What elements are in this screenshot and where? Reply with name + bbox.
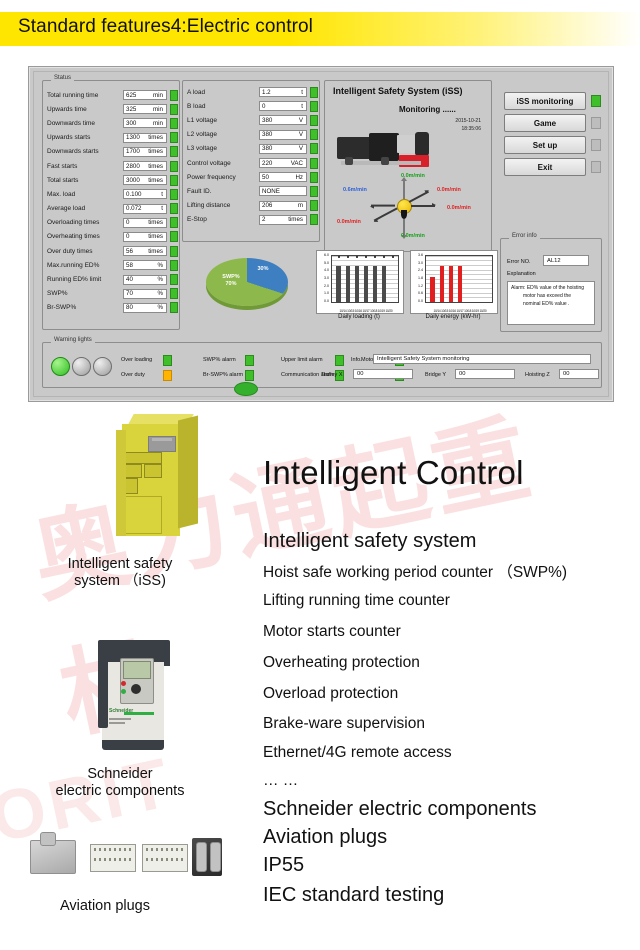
timestamp-date: 2015-10-21: [421, 118, 481, 124]
row-led: [310, 101, 318, 112]
plug-pin: [129, 858, 131, 861]
row-label: Control voltage: [183, 160, 259, 167]
row-label: L3 voltage: [183, 145, 259, 152]
row-unit: V: [299, 131, 304, 138]
coord-value-1: 00: [459, 371, 465, 377]
schneider-vfd-image: Schneider: [98, 640, 178, 752]
plug-pin: [156, 848, 158, 851]
chart-bar: [440, 266, 444, 302]
error-explanation-line-2: motor has exceed the: [511, 293, 591, 301]
daily-loading-plot: [331, 255, 399, 303]
info-value: Intelligent Safety System monitoring: [377, 356, 469, 362]
chart-ytick: 0.0: [317, 299, 329, 303]
chart-marker: [338, 256, 340, 258]
row-value: 0.072: [126, 205, 141, 212]
row-led: [170, 203, 178, 214]
row-field[interactable]: 380V: [259, 130, 307, 140]
plug-pin: [161, 848, 163, 851]
chart-ytick: 3.6: [411, 253, 423, 257]
row-unit: Hz: [295, 174, 304, 181]
page-root: 奥力通起重机 ORIT Standard features4:Electric …: [0, 0, 640, 950]
content-item-0: Hoist safe working period counter （SWP%): [263, 560, 567, 582]
daily-loading-xticks: 10/14 10/15 10/16 10/17 10/18 10/19 10/2…: [331, 309, 401, 313]
row-led: [170, 274, 178, 285]
row-unit: t: [161, 205, 164, 212]
chart-ytick: 4.0: [317, 268, 329, 272]
warning-lights-title: Warning lights: [51, 337, 95, 343]
row-value: 380: [262, 117, 272, 124]
row-label: Downwards starts: [43, 148, 123, 155]
row-value: 58: [126, 262, 133, 269]
row-led: [170, 104, 178, 115]
speed-label-left-up: 0.6m/min: [343, 187, 367, 193]
warning-indicator-2: [245, 355, 254, 366]
row-value: 3000: [126, 177, 140, 184]
content-section1-title: Intelligent safety system: [263, 530, 476, 553]
arrow-up: [403, 181, 405, 199]
error-explanation-line-3: nominal ED% value .: [511, 301, 591, 309]
button-led-3: [591, 161, 601, 173]
row-led: [310, 115, 318, 126]
plug-pin: [124, 858, 126, 861]
plug-pin: [151, 858, 153, 861]
row-unit: t: [301, 89, 304, 96]
row-led: [170, 260, 178, 271]
button-iss-monitoring[interactable]: iSS monitoring: [504, 92, 586, 110]
chart-ytick: 3.0: [411, 261, 423, 265]
daily-loading-chart: 6.05.04.03.02.01.00.0 10/14 10/15 10/16 …: [316, 250, 402, 330]
chart-ytick: 5.0: [317, 261, 329, 265]
row-unit: t: [161, 191, 164, 198]
content-item-5: Brake-ware supervision: [263, 715, 425, 733]
row-field[interactable]: 80%: [123, 303, 167, 313]
row-label: Running ED% limit: [43, 276, 123, 283]
row-label: Fault ID.: [183, 188, 259, 195]
warning-lamp-2: [93, 357, 112, 376]
row-value: 625: [126, 92, 136, 99]
plug-pin: [171, 858, 173, 861]
iss-panel-title: Intelligent Safety System (iSS): [333, 86, 463, 96]
row-field[interactable]: 70%: [123, 289, 167, 299]
row-label: L1 voltage: [183, 117, 259, 124]
status-table: Total running time625minUpwards time325m…: [43, 81, 179, 315]
arrow-down-left: [373, 207, 397, 221]
row-field[interactable]: 625min: [123, 90, 167, 100]
hoist-illustration: [337, 129, 455, 181]
row-field[interactable]: 56times: [123, 246, 167, 256]
row-led: [310, 87, 318, 98]
measure-group: A load1.2tB load0tL1 voltage380VL2 volta…: [182, 80, 320, 242]
button-game[interactable]: Game: [504, 114, 586, 132]
error-number-field: AL12: [543, 255, 589, 266]
row-label: Fast starts: [43, 163, 123, 170]
swp-pie-chart: SWP%70% 30%: [194, 252, 304, 316]
daily-loading-caption: Daily loading (t): [316, 314, 402, 320]
row-label: Downwards time: [43, 120, 123, 127]
arrow-left: [371, 205, 395, 207]
row-field[interactable]: 300min: [123, 118, 167, 128]
row-unit: times: [148, 248, 164, 255]
row-unit: times: [148, 233, 164, 240]
content-item-1: Lifting running time counter: [263, 592, 450, 610]
row-label: E-Stop: [183, 216, 259, 223]
row-field[interactable]: 0.072t: [123, 204, 167, 214]
plug-pin: [99, 858, 101, 861]
row-value: 300: [126, 120, 136, 127]
content-feature-0: Schneider electric components: [263, 798, 536, 821]
error-number-value: AL12: [547, 258, 561, 264]
table-row: Max.running ED%58%: [43, 258, 179, 272]
row-unit: times: [148, 163, 164, 170]
content-feature-1: Aviation plugs: [263, 826, 387, 849]
arrow-right: [411, 205, 435, 207]
caption-iss: Intelligent safetysystem （iSS): [5, 556, 235, 590]
row-field[interactable]: 0.100t: [123, 189, 167, 199]
content-feature-2: IP55: [263, 854, 304, 877]
coord-field-0[interactable]: 00: [353, 369, 413, 379]
row-label: Overheating times: [43, 233, 123, 240]
row-value: 0.100: [126, 191, 141, 198]
plug-pin: [129, 848, 131, 851]
daily-energy-chart: 3.63.02.41.81.20.60.0 10/14 10/15 10/16 …: [410, 250, 496, 330]
row-unit: times: [148, 177, 164, 184]
chart-bar: [430, 277, 434, 302]
row-led: [170, 246, 178, 257]
row-unit: %: [157, 290, 164, 297]
aviation-plugs-image: [28, 828, 228, 884]
status-pill: [234, 382, 258, 396]
chart-ytick: 1.0: [317, 291, 329, 295]
row-label: Average load: [43, 205, 123, 212]
row-led: [310, 158, 318, 169]
button-led-1: [591, 117, 601, 129]
table-row: L1 voltage380V: [183, 113, 319, 127]
row-label: SWP%: [43, 290, 123, 297]
row-led: [170, 118, 178, 129]
button-exit[interactable]: Exit: [504, 158, 586, 176]
coord-value-2: 00: [563, 371, 569, 377]
row-label: B load: [183, 103, 259, 110]
hmi-inner-frame: Status Total running time625minUpwards t…: [33, 71, 609, 397]
plug-pin: [124, 848, 126, 851]
row-value: 0: [126, 233, 129, 240]
plug-pin: [166, 858, 168, 861]
table-row: Br-SWP%80%: [43, 301, 179, 315]
row-field[interactable]: NONE: [259, 186, 307, 196]
daily-energy-xticks: 10/14 10/15 10/16 10/17 10/18 10/19 10/2…: [425, 309, 495, 313]
row-label: Max.running ED%: [43, 262, 123, 269]
chart-bar: [382, 266, 386, 302]
row-value: 1700: [126, 148, 140, 155]
table-row: L3 voltage380V: [183, 142, 319, 156]
pie-slice-label-0: SWP%70%: [214, 274, 248, 288]
plug-pin: [176, 858, 178, 861]
row-label: Lifting distance: [183, 202, 259, 209]
row-led: [170, 231, 178, 242]
row-value: 56: [126, 248, 133, 255]
warning-label-3: Br-SWP% alarm: [203, 372, 243, 378]
row-label: Br-SWP%: [43, 304, 123, 311]
row-unit: times: [148, 219, 164, 226]
chart-ytick: 6.0: [317, 253, 329, 257]
row-label: Upwards time: [43, 106, 123, 113]
row-field[interactable]: 2times: [259, 215, 307, 225]
content-item-7: … …: [263, 772, 298, 790]
info-label: Info.: [351, 357, 362, 363]
row-led: [170, 288, 178, 299]
error-explanation-label: Explanation: [507, 271, 536, 277]
row-field[interactable]: 206m: [259, 201, 307, 211]
table-row: Average load0.072t: [43, 202, 179, 216]
row-led: [310, 172, 318, 183]
row-value: 325: [126, 106, 136, 113]
row-unit: m: [298, 202, 304, 209]
row-field[interactable]: 58%: [123, 260, 167, 270]
row-field[interactable]: 325min: [123, 104, 167, 114]
row-unit: t: [301, 103, 304, 110]
row-field[interactable]: 1.2t: [259, 87, 307, 97]
plug-pin: [99, 848, 101, 851]
row-unit: V: [299, 145, 304, 152]
row-field[interactable]: 380V: [259, 144, 307, 154]
row-value: 80: [126, 304, 133, 311]
daily-energy-plot: [425, 255, 493, 303]
button-led-2: [591, 139, 601, 151]
plug-pin: [176, 848, 178, 851]
plug-pin: [104, 858, 106, 861]
row-value: 0: [126, 219, 129, 226]
chart-bar: [346, 266, 350, 302]
row-field[interactable]: 1300times: [123, 133, 167, 143]
coord-label-1: Bridge Y: [425, 372, 446, 378]
speed-label-right-up: 0.0m/min: [437, 187, 461, 193]
row-unit: times: [288, 216, 304, 223]
status-group: Status Total running time625minUpwards t…: [42, 80, 180, 330]
row-led: [170, 189, 178, 200]
row-unit: %: [157, 276, 164, 283]
row-led: [170, 175, 178, 186]
plug-pin: [109, 848, 111, 851]
row-value: 1.2: [262, 89, 271, 96]
warning-lamp-0: [51, 357, 70, 376]
chart-ytick: 2.4: [411, 268, 423, 272]
plug-pin: [161, 858, 163, 861]
warning-label-1: Over duty: [121, 372, 145, 378]
caption-schneider: Schneiderelectric components: [5, 766, 235, 800]
error-explanation-box: Alarm: ED% value of the hoisting motor h…: [507, 281, 595, 325]
warning-label-2: SWP% alarm: [203, 357, 236, 363]
chart-ytick: 1.2: [411, 284, 423, 288]
hook-icon: [401, 210, 407, 219]
plug-pin: [114, 858, 116, 861]
row-field[interactable]: 220VAC: [259, 158, 307, 168]
coord-label-2: Hoisting Z: [525, 372, 550, 378]
table-row: Downwards time300min: [43, 116, 179, 130]
plug-pin: [104, 848, 106, 851]
row-value: 70: [126, 290, 133, 297]
table-row: SWP%70%: [43, 287, 179, 301]
chart-marker: [392, 256, 394, 258]
row-value: 0: [262, 103, 265, 110]
row-field[interactable]: 380V: [259, 115, 307, 125]
chart-bar: [336, 266, 340, 302]
table-row: L2 voltage380V: [183, 128, 319, 142]
warning-label-0: Over loading: [121, 357, 152, 363]
iss-module-image: [108, 412, 204, 552]
content-item-2: Motor starts counter: [263, 623, 401, 641]
chart-ytick: 2.0: [317, 284, 329, 288]
table-row: Over duty times56times: [43, 244, 179, 258]
info-field[interactable]: Intelligent Safety System monitoring: [373, 354, 591, 364]
error-info-group: Error info Error NO. AL12 Explanation Al…: [500, 238, 602, 332]
caption-plugs: Aviation plugs: [0, 898, 220, 915]
row-value: 2800: [126, 163, 140, 170]
chart-marker: [374, 256, 376, 258]
row-led: [170, 217, 178, 228]
plug-pin: [171, 848, 173, 851]
chart-ytick: 0.6: [411, 291, 423, 295]
row-label: Total running time: [43, 92, 123, 99]
row-field[interactable]: 1700times: [123, 147, 167, 157]
row-label: Power frequency: [183, 174, 259, 181]
table-row: E-Stop2times: [183, 213, 319, 227]
row-field[interactable]: 0times: [123, 232, 167, 242]
daily-energy-caption: Daily energy (kW-hr): [410, 314, 496, 320]
table-row: Fast starts2800times: [43, 159, 179, 173]
table-row: Max. load0.100t: [43, 187, 179, 201]
row-led: [310, 214, 318, 225]
row-unit: V: [299, 117, 304, 124]
table-row: Power frequency50Hz: [183, 170, 319, 184]
row-unit: times: [148, 134, 164, 141]
row-led: [310, 200, 318, 211]
row-field[interactable]: 40%: [123, 275, 167, 285]
row-value: 2: [262, 216, 265, 223]
chart-marker: [347, 256, 349, 258]
button-set-up[interactable]: Set up: [504, 136, 586, 154]
warning-indicator-0: [163, 355, 172, 366]
row-field[interactable]: 2800times: [123, 161, 167, 171]
row-led: [170, 132, 178, 143]
table-row: B load0t: [183, 99, 319, 113]
daily-energy-chartbox: 3.63.02.41.81.20.60.0 10/14 10/15 10/16 …: [410, 250, 498, 314]
row-unit: min: [153, 106, 164, 113]
row-led: [310, 186, 318, 197]
plug-pin: [166, 848, 168, 851]
row-label: Over duty times: [43, 248, 123, 255]
plug-pin: [109, 858, 111, 861]
table-row: Total running time625min: [43, 88, 179, 102]
plug-pin: [146, 848, 148, 851]
coord-field-2[interactable]: 00: [559, 369, 599, 379]
speed-label-right: 0.0m/min: [447, 205, 471, 211]
table-row: A load1.2t: [183, 85, 319, 99]
error-number-label: Error NO.: [507, 259, 531, 265]
row-unit: VAC: [291, 160, 304, 167]
row-led: [170, 146, 178, 157]
row-label: L2 voltage: [183, 131, 259, 138]
warning-lamp-1: [72, 357, 91, 376]
row-unit: min: [153, 120, 164, 127]
row-label: A load: [183, 89, 259, 96]
row-value: 380: [262, 131, 272, 138]
plug-pin: [181, 848, 183, 851]
row-led: [170, 302, 178, 313]
plug-pin: [119, 858, 121, 861]
warning-label-4: Upper limit alarm: [281, 357, 323, 363]
plug-pin: [146, 858, 148, 861]
coord-value-0: 00: [357, 371, 363, 377]
table-row: Upwards time325min: [43, 102, 179, 116]
speed-label-left-down: 0.0m/min: [337, 219, 361, 225]
measure-table: A load1.2tB load0tL1 voltage380VL2 volta…: [183, 81, 319, 227]
row-led: [310, 143, 318, 154]
row-field[interactable]: 0times: [123, 218, 167, 228]
content-feature-3: IEC standard testing: [263, 884, 444, 907]
plug-pin: [181, 858, 183, 861]
plug-pin: [94, 848, 96, 851]
warning-indicator-3: [245, 370, 254, 381]
content-item-3: Overheating protection: [263, 654, 420, 672]
chart-ytick: 0.0: [411, 299, 423, 303]
page-title: Standard features4:Electric control: [18, 16, 313, 38]
row-label: Total starts: [43, 177, 123, 184]
row-value: 380: [262, 145, 272, 152]
row-field[interactable]: 0t: [259, 101, 307, 111]
content-item-4: Overload protection: [263, 685, 398, 703]
row-led: [170, 161, 178, 172]
plug-pin: [119, 848, 121, 851]
speed-label-up: 0.0m/min: [401, 173, 425, 179]
plug-pin: [151, 848, 153, 851]
row-unit: times: [148, 148, 164, 155]
chart-bar: [449, 266, 453, 302]
daily-loading-chartbox: 6.05.04.03.02.01.00.0 10/14 10/15 10/16 …: [316, 250, 404, 314]
row-value: 40: [126, 276, 133, 283]
table-row: Fault ID.NONE: [183, 184, 319, 198]
chart-ytick: 3.0: [317, 276, 329, 280]
chart-bar: [355, 266, 359, 302]
table-row: Downwards starts1700times: [43, 145, 179, 159]
warning-lights-group: Warning lights Over loadingOver dutySWP%…: [42, 342, 602, 388]
table-row: Control voltage220VAC: [183, 156, 319, 170]
content-heading: Intelligent Control: [263, 454, 524, 492]
arrow-up-right: [409, 191, 429, 203]
row-label: Max. load: [43, 191, 123, 198]
monitoring-label: Monitoring ......: [399, 105, 456, 114]
table-row: Overheating times0times: [43, 230, 179, 244]
chart-bar: [364, 266, 368, 302]
row-field[interactable]: 3000times: [123, 175, 167, 185]
table-row: Overloading times0times: [43, 216, 179, 230]
iss-panel: Intelligent Safety System (iSS) Monitori…: [324, 80, 492, 252]
coord-field-1[interactable]: 00: [455, 369, 515, 379]
chart-bar: [458, 266, 462, 302]
coord-label-0: Trolley X: [321, 372, 343, 378]
row-field[interactable]: 50Hz: [259, 172, 307, 182]
pie-slice-label-1: 30%: [252, 266, 274, 273]
row-led: [310, 129, 318, 140]
chart-bar: [373, 266, 377, 302]
row-led: [170, 90, 178, 101]
hmi-screenshot: Status Total running time625minUpwards t…: [28, 66, 614, 402]
button-led-0: [591, 95, 601, 107]
row-unit: min: [153, 92, 164, 99]
row-value: 50: [262, 174, 269, 181]
table-row: Total starts3000times: [43, 173, 179, 187]
plug-pin: [94, 858, 96, 861]
chart-marker: [365, 256, 367, 258]
